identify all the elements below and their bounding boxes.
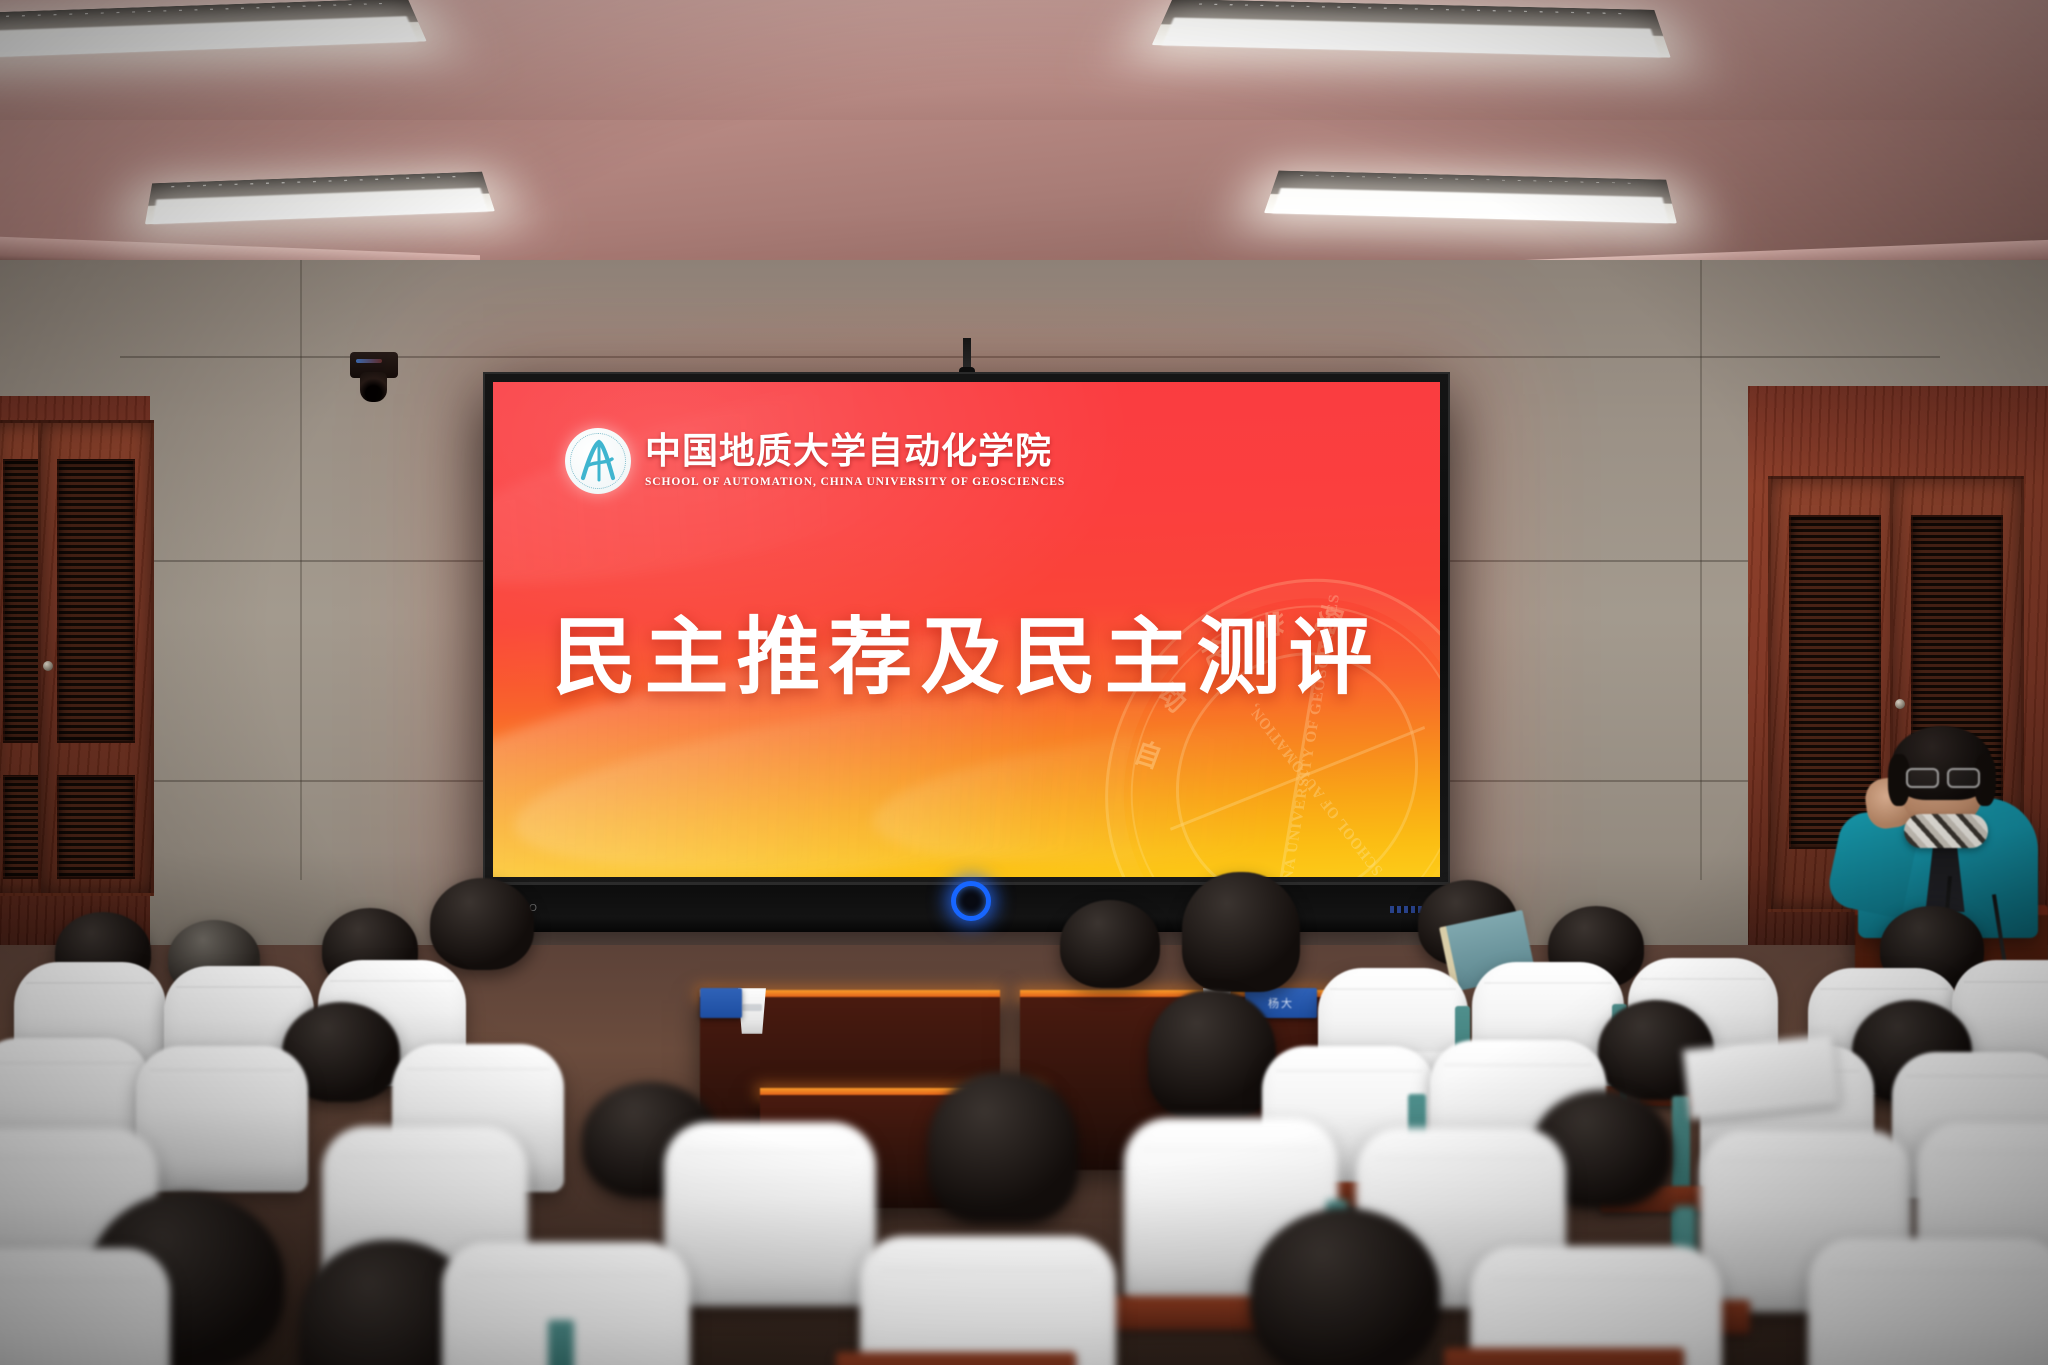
eyeglasses-icon bbox=[1906, 768, 1980, 784]
door-knob[interactable] bbox=[1895, 699, 1905, 709]
door-left-panel-2[interactable] bbox=[38, 420, 154, 896]
desk-nameplate-2 bbox=[700, 988, 742, 1018]
speaker-hair bbox=[1892, 726, 1992, 800]
patterned-scarf bbox=[1904, 814, 1988, 848]
seat-armrest bbox=[1444, 1348, 1684, 1365]
wall-seam-v1 bbox=[300, 260, 302, 880]
slide-logo-title-en: SCHOOL OF AUTOMATION, CHINA UNIVERSITY O… bbox=[645, 476, 1065, 488]
emblem-a-glyph bbox=[565, 428, 631, 494]
door-louver-vent-lower bbox=[57, 775, 135, 879]
attendee-head bbox=[928, 1072, 1078, 1222]
university-a-emblem-icon bbox=[565, 428, 631, 494]
seat[interactable] bbox=[1808, 1238, 2048, 1365]
attendee-head bbox=[1148, 990, 1276, 1118]
attendee-head bbox=[1250, 1208, 1440, 1365]
ceiling-ptz-camera bbox=[350, 352, 398, 404]
power-ring-indicator[interactable] bbox=[951, 881, 991, 921]
seat-armrest bbox=[836, 1352, 1076, 1365]
slide-canvas: 自 动 化 学 院 SCHOOL OF AUTOMATION, CHINA UN… bbox=[493, 382, 1440, 877]
presentation-display[interactable]: 自 动 化 学 院 SCHOOL OF AUTOMATION, CHINA UN… bbox=[483, 372, 1450, 932]
door-louver-vent bbox=[57, 459, 135, 743]
troffer-light-left-front bbox=[145, 172, 495, 225]
speaker-at-podium bbox=[1848, 726, 2048, 926]
seat[interactable] bbox=[0, 1248, 170, 1365]
slide-main-title: 民主推荐及民主测评 bbox=[493, 590, 1440, 711]
seat[interactable] bbox=[136, 1046, 308, 1192]
seat[interactable] bbox=[860, 1236, 1116, 1365]
camera-lens bbox=[360, 372, 387, 402]
attendee-head bbox=[430, 878, 534, 970]
wall-seam-v2 bbox=[1700, 260, 1702, 880]
ceiling bbox=[0, 0, 2048, 300]
seat-frame bbox=[548, 1320, 574, 1365]
display-chin: AIYO bbox=[483, 882, 1450, 932]
slide-logo-title-cn: 中国地质大学自动化学院 bbox=[645, 434, 1065, 471]
slide-logo-lockup: 中国地质大学自动化学院 SCHOOL OF AUTOMATION, CHINA … bbox=[565, 428, 1065, 494]
attendee-head bbox=[1060, 900, 1160, 988]
conference-room-scene: 自 动 化 学 院 SCHOOL OF AUTOMATION, CHINA UN… bbox=[0, 0, 2048, 1365]
troffer-light-right-front bbox=[1264, 171, 1677, 224]
attendee-head bbox=[1182, 872, 1300, 992]
door-knob[interactable] bbox=[43, 661, 53, 671]
seat[interactable] bbox=[664, 1122, 876, 1306]
slide-logo-text: 中国地质大学自动化学院 SCHOOL OF AUTOMATION, CHINA … bbox=[645, 434, 1065, 488]
slide-swoosh-3 bbox=[867, 700, 1440, 877]
display-ceiling-mount bbox=[963, 338, 971, 374]
